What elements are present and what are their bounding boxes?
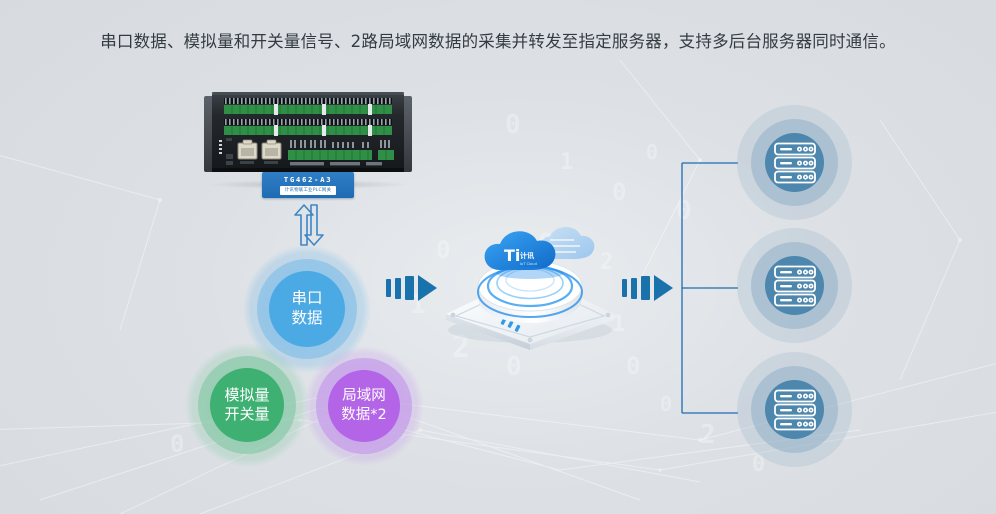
binary-watermark: 0 xyxy=(626,352,640,380)
lan-label-line1: 局域网 xyxy=(342,387,386,406)
svg-text:IoT Cloud: IoT Cloud xyxy=(520,262,537,266)
arrow-bar xyxy=(386,279,391,297)
server-node-2[interactable] xyxy=(737,228,852,343)
server-core xyxy=(765,256,824,315)
server-rack-icon xyxy=(772,388,818,432)
binary-watermark: 1 xyxy=(560,150,573,175)
device-sub-text: 计讯物联工业PLC网关 xyxy=(280,186,337,195)
cloud-gateway[interactable]: Ti 计讯 IoT Cloud xyxy=(438,218,628,350)
page-title: 串口数据、模拟量和开关量信号、2路局域网数据的采集并转发至指定服务器，支持多后台… xyxy=(0,30,996,54)
serial-label-line2: 数据 xyxy=(291,309,322,329)
arrow-bar xyxy=(395,278,401,299)
binary-watermark: 0 xyxy=(612,178,626,206)
binary-watermark: 0 xyxy=(505,110,521,140)
server-node-3[interactable] xyxy=(737,352,852,467)
block-arrow-right-icon xyxy=(654,275,673,301)
data-source-lan[interactable]: 局域网 数据*2 xyxy=(304,346,424,466)
server-core xyxy=(765,380,824,439)
server-rack-icon xyxy=(772,264,818,308)
diagram-canvas: 0 1 0 0 0 0 2 0 1 2 0 1 0 0 2 0 0 串口数据、模… xyxy=(0,0,996,514)
bidirectional-arrow xyxy=(288,203,330,247)
arrow-bar xyxy=(631,278,637,299)
bubble-core-analog: 模拟量 开关量 xyxy=(210,368,284,442)
arrow-bar xyxy=(405,276,414,300)
arrow-bar xyxy=(641,276,650,300)
binary-watermark: 0 xyxy=(170,430,184,458)
binary-watermark: 0 xyxy=(646,140,658,164)
cloud-logo-text: Ti xyxy=(504,246,520,265)
flow-arrow-right xyxy=(622,275,673,301)
bubble-core-lan: 局域网 数据*2 xyxy=(328,370,400,442)
cloud-logo-sub: 计讯 xyxy=(520,251,534,260)
binary-watermark: 0 xyxy=(660,392,672,416)
data-source-analog[interactable]: 模拟量 开关量 xyxy=(185,343,309,467)
serial-label-line1: 串口 xyxy=(291,289,322,309)
bidirectional-arrow-icon xyxy=(288,203,330,247)
device-model-text: TG462-A3 xyxy=(284,175,332,184)
server-core xyxy=(765,133,824,192)
flow-arrow-left xyxy=(386,275,437,301)
server-rack-icon xyxy=(772,141,818,185)
lan-label-line2: 数据*2 xyxy=(341,406,386,425)
bubble-core-serial: 串口 数据 xyxy=(269,271,345,347)
plc-device: TG462-A3 计讯物联工业PLC网关 xyxy=(200,88,420,203)
analog-label-line1: 模拟量 xyxy=(224,386,269,405)
device-model-badge: TG462-A3 计讯物联工业PLC网关 xyxy=(262,172,354,198)
server-node-1[interactable] xyxy=(737,105,852,220)
binary-watermark: 0 xyxy=(506,352,522,382)
cloud-platform-icon: Ti 计讯 IoT Cloud xyxy=(438,218,628,350)
analog-label-line2: 开关量 xyxy=(224,405,269,424)
block-arrow-right-icon xyxy=(418,275,437,301)
